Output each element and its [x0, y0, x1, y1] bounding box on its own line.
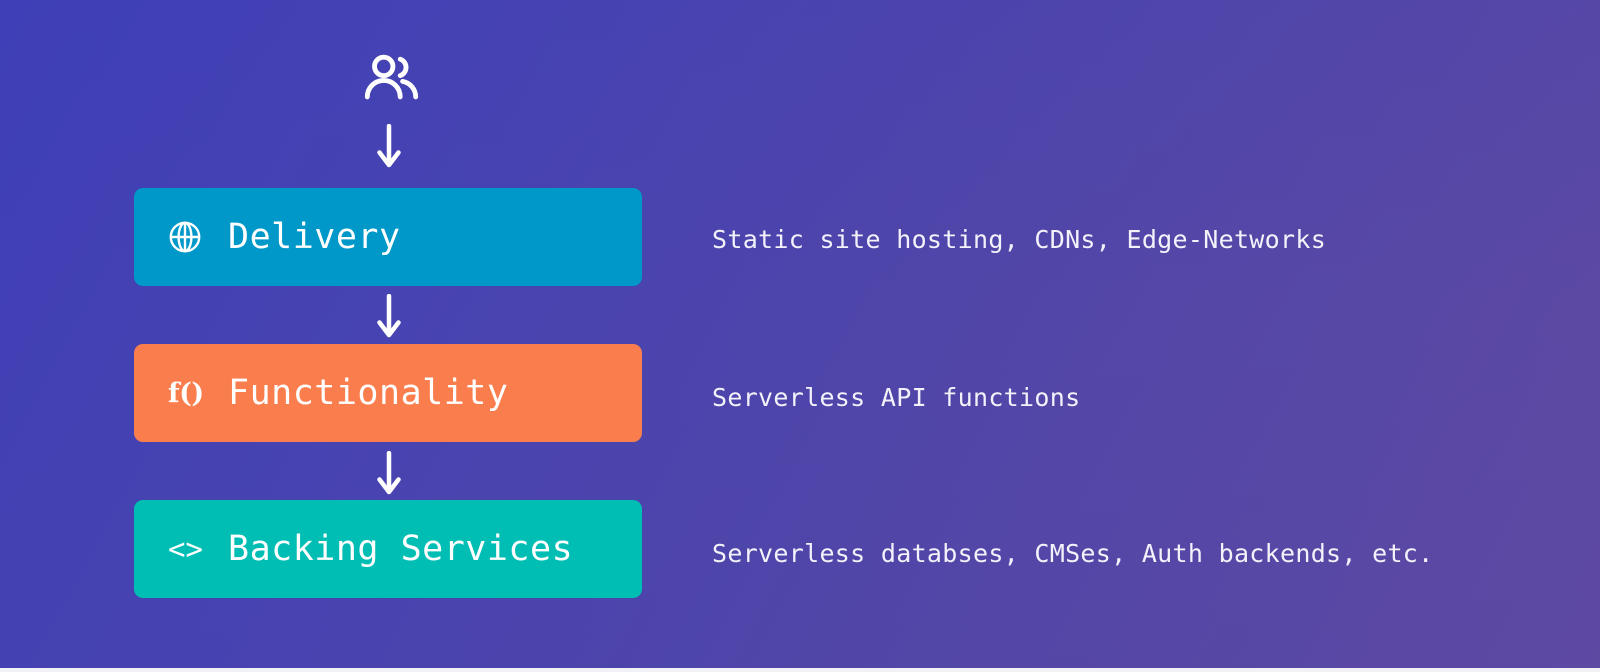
code-brackets-icon: <>	[168, 535, 212, 564]
users-icon	[360, 48, 422, 110]
layer-box-functionality[interactable]: f() Functionality	[134, 344, 642, 442]
layer-row-delivery: Delivery Static site hosting, CDNs, Edge…	[0, 188, 1600, 288]
function-icon-glyph: f()	[168, 380, 204, 407]
function-icon: f()	[168, 380, 212, 407]
layer-description-backing-services: Serverless databses, CMSes, Auth backend…	[712, 504, 1434, 602]
layer-box-backing-services[interactable]: <> Backing Services	[134, 500, 642, 598]
layer-description-functionality: Serverless API functions	[712, 348, 1080, 446]
diagram-canvas: Delivery Static site hosting, CDNs, Edge…	[0, 0, 1600, 672]
arrow-functionality-to-backing-services	[374, 451, 404, 497]
layer-label-functionality: Functionality	[228, 373, 508, 413]
layer-label-delivery: Delivery	[228, 217, 401, 257]
bottom-edge-strip	[0, 668, 1600, 672]
arrow-user-to-delivery	[374, 124, 404, 170]
layer-row-backing-services: <> Backing Services Serverless databses,…	[0, 500, 1600, 600]
arrow-delivery-to-functionality	[374, 294, 404, 340]
layer-row-functionality: f() Functionality Serverless API functio…	[0, 344, 1600, 444]
globe-icon	[168, 220, 212, 254]
layer-box-delivery[interactable]: Delivery	[134, 188, 642, 286]
layer-label-backing-services: Backing Services	[228, 529, 573, 569]
code-brackets-icon-glyph: <>	[168, 535, 203, 564]
layer-description-delivery: Static site hosting, CDNs, Edge-Networks	[712, 190, 1326, 288]
